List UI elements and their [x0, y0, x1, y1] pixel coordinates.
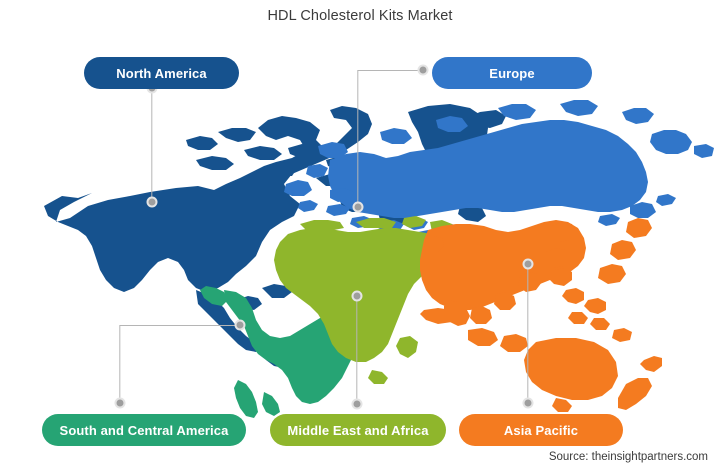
connector-line-asia-pacific	[527, 264, 528, 403]
marker-dot-europe	[353, 202, 364, 213]
region-label-south-and-central-america-text: South and Central America	[60, 423, 229, 438]
region-label-middle-east-and-africa-text: Middle East and Africa	[287, 423, 428, 438]
marker-dot-middle-east-and-africa-bottom	[352, 399, 363, 410]
region-label-north-america-text: North America	[116, 66, 206, 81]
connector-line-south-and-central-america-vertical	[119, 325, 120, 403]
region-label-south-and-central-america[interactable]: South and Central America	[42, 414, 246, 446]
marker-dot-asia-pacific	[523, 259, 534, 270]
connector-line-north-america	[151, 88, 152, 202]
region-label-asia-pacific-text: Asia Pacific	[504, 423, 578, 438]
marker-dot-south-and-central-america	[235, 320, 246, 331]
region-label-asia-pacific[interactable]: Asia Pacific	[459, 414, 623, 446]
region-label-europe-text: Europe	[489, 66, 534, 81]
marker-dot-south-and-central-america-bottom	[115, 398, 126, 409]
source-attribution: Source: theinsightpartners.com	[549, 451, 708, 463]
connector-line-south-and-central-america-horizontal	[120, 325, 240, 326]
region-label-europe[interactable]: Europe	[432, 57, 592, 89]
region-shape-asia-pacific[interactable]	[420, 218, 662, 412]
world-map-infographic: HDL Cholesterol Kits Market	[0, 0, 720, 470]
marker-dot-north-america	[147, 197, 158, 208]
connector-line-middle-east-and-africa	[356, 296, 357, 404]
region-label-middle-east-and-africa[interactable]: Middle East and Africa	[270, 414, 446, 446]
marker-dot-europe-anchor	[418, 65, 429, 76]
region-label-north-america[interactable]: North America	[84, 57, 239, 89]
connector-line-europe-vertical	[357, 70, 358, 207]
marker-dot-middle-east-and-africa	[352, 291, 363, 302]
connector-line-europe-horizontal	[358, 70, 423, 71]
marker-dot-asia-pacific-bottom	[523, 398, 534, 409]
